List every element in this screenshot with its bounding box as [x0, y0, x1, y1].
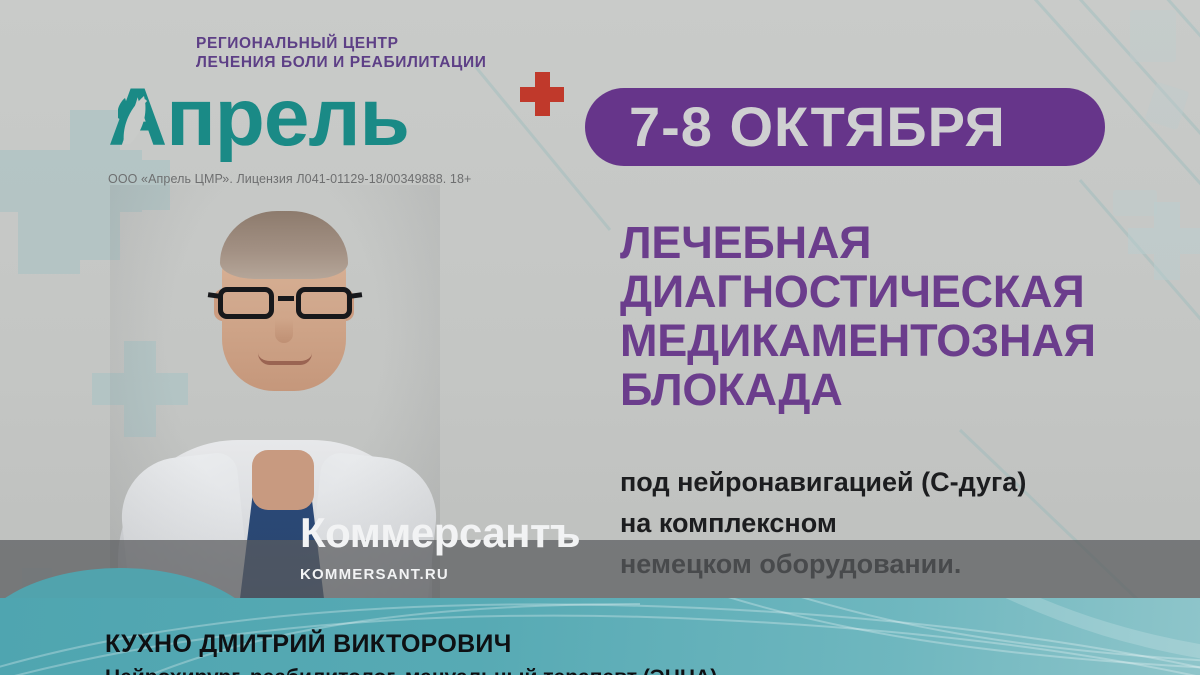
watermark: Коммерсантъ KOMMERSANT.RU	[300, 512, 580, 583]
medical-plus-icon	[520, 72, 564, 116]
leaf-icon	[118, 88, 164, 150]
headline-block: ЛЕЧЕБНАЯ ДИАГНОСТИЧЕСКАЯ МЕДИКАМЕНТОЗНАЯ…	[620, 218, 1165, 414]
headline-line-1: ЛЕЧЕБНАЯ	[620, 218, 1165, 267]
subtitle-line-2: на комплексном	[620, 503, 1180, 544]
logo-tagline-line2: ЛЕЧЕНИЯ БОЛИ И РЕАБИЛИТАЦИИ	[196, 53, 560, 72]
watermark-title: Коммерсантъ	[300, 512, 580, 554]
headline-line-4: БЛОКАДА	[620, 365, 1165, 414]
date-banner-text: 7-8 ОКТЯБРЯ	[629, 99, 1006, 155]
doctor-name: КУХНО ДМИТРИЙ ВИКТОРОВИЧ	[105, 630, 905, 658]
doctor-caption: КУХНО ДМИТРИЙ ВИКТОРОВИЧ Нейрохирург, ре…	[105, 630, 905, 675]
doctor-role: Нейрохирург, реабилитолог, мануальный те…	[105, 665, 905, 675]
date-banner: 7-8 ОКТЯБРЯ	[585, 88, 1105, 166]
brand-logo: РЕГИОНАЛЬНЫЙ ЦЕНТР ЛЕЧЕНИЯ БОЛИ И РЕАБИЛ…	[108, 34, 560, 186]
logo-tagline-line1: РЕГИОНАЛЬНЫЙ ЦЕНТР	[196, 34, 560, 53]
headline-line-3: МЕДИКАМЕНТОЗНАЯ	[620, 316, 1165, 365]
logo-wordmark: Апрель	[108, 74, 560, 162]
poster-canvas: РЕГИОНАЛЬНЫЙ ЦЕНТР ЛЕЧЕНИЯ БОЛИ И РЕАБИЛ…	[0, 0, 1200, 675]
subtitle-line-1: под нейронавигацией (С-дуга)	[620, 462, 1180, 503]
license-text: ООО «Апрель ЦМР». Лицензия Л041-01129-18…	[108, 172, 560, 186]
headline-line-2: ДИАГНОСТИЧЕСКАЯ	[620, 267, 1165, 316]
watermark-url: KOMMERSANT.RU	[300, 566, 580, 583]
